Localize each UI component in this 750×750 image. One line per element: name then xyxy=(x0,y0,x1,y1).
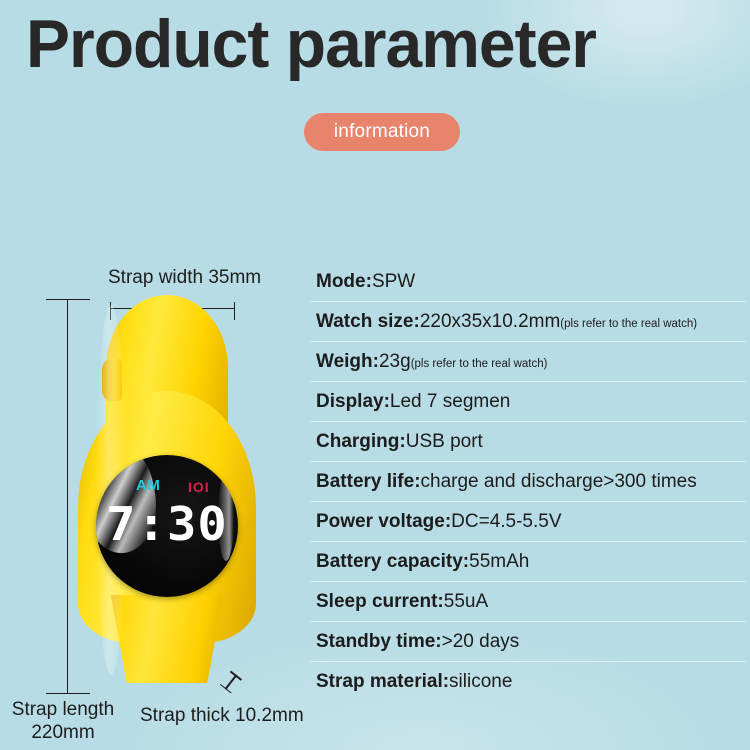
watch-strap-bottom xyxy=(100,595,234,683)
spec-row: Strap material:silicone xyxy=(310,662,746,702)
dial-alarm-indicator-icon: IOI xyxy=(188,479,210,495)
spec-row: Battery capacity:55mAh xyxy=(310,542,746,582)
spec-value: charge and discharge>300 times xyxy=(421,471,697,493)
specification-list: Mode:SPWWatch size:220x35x10.2mm(pls ref… xyxy=(310,262,746,702)
spec-value: silicone xyxy=(449,671,512,693)
spec-value: DC=4.5-5.5V xyxy=(451,511,561,533)
dial-time-display: 7:30 xyxy=(96,501,238,547)
spec-value: 55uA xyxy=(444,591,488,613)
watch-dial: AM IOI 7:30 xyxy=(96,455,238,597)
spec-value: SPW xyxy=(372,271,415,293)
spec-value: 220x35x10.2mm xyxy=(420,311,560,333)
spec-value: USB port xyxy=(406,431,483,453)
strap-length-line-2: 220mm xyxy=(4,721,122,744)
spec-label: Sleep current: xyxy=(316,591,444,613)
spec-row: Standby time:>20 days xyxy=(310,622,746,662)
strap-width-label: Strap width 35mm xyxy=(108,267,261,289)
spec-row: Weigh:23g(pls refer to the real watch) xyxy=(310,342,746,382)
strap-length-label: Strap length 220mm xyxy=(4,698,122,744)
watch-product-image: AM IOI 7:30 xyxy=(78,295,256,705)
spec-label: Mode: xyxy=(316,271,372,293)
spec-note: (pls refer to the real watch) xyxy=(411,358,548,381)
spec-label: Strap material: xyxy=(316,671,449,693)
strap-length-line-1: Strap length xyxy=(4,698,122,721)
spec-label: Charging: xyxy=(316,431,406,453)
spec-row: Battery life:charge and discharge>300 ti… xyxy=(310,462,746,502)
product-parameter-page: Product parameter information Strap widt… xyxy=(0,0,750,750)
information-badge: information xyxy=(304,113,460,151)
spec-row: Mode:SPW xyxy=(310,262,746,302)
spec-row: Power voltage:DC=4.5-5.5V xyxy=(310,502,746,542)
spec-value: >20 days xyxy=(442,631,520,653)
spec-label: Display: xyxy=(316,391,390,413)
page-title: Product parameter xyxy=(26,8,596,81)
spec-value: 23g xyxy=(379,351,411,373)
spec-row: Watch size:220x35x10.2mm(pls refer to th… xyxy=(310,302,746,342)
spec-label: Watch size: xyxy=(316,311,420,333)
spec-label: Battery life: xyxy=(316,471,421,493)
strap-thickness-label: Strap thick 10.2mm xyxy=(140,705,304,727)
spec-label: Standby time: xyxy=(316,631,442,653)
spec-value: Led 7 segmen xyxy=(390,391,510,413)
watch-strap-notch xyxy=(102,359,122,401)
spec-row: Charging:USB port xyxy=(310,422,746,462)
product-image-area: Strap width 35mm AM IOI 7:30 xyxy=(0,255,305,750)
spec-label: Weigh: xyxy=(316,351,379,373)
spec-label: Battery capacity: xyxy=(316,551,469,573)
dial-am-label: AM xyxy=(136,477,160,494)
spec-row: Display:Led 7 segmen xyxy=(310,382,746,422)
spec-row: Sleep current:55uA xyxy=(310,582,746,622)
spec-note: (pls refer to the real watch) xyxy=(560,318,697,341)
spec-value: 55mAh xyxy=(469,551,529,573)
dimension-line-vertical xyxy=(67,299,68,694)
spec-label: Power voltage: xyxy=(316,511,451,533)
